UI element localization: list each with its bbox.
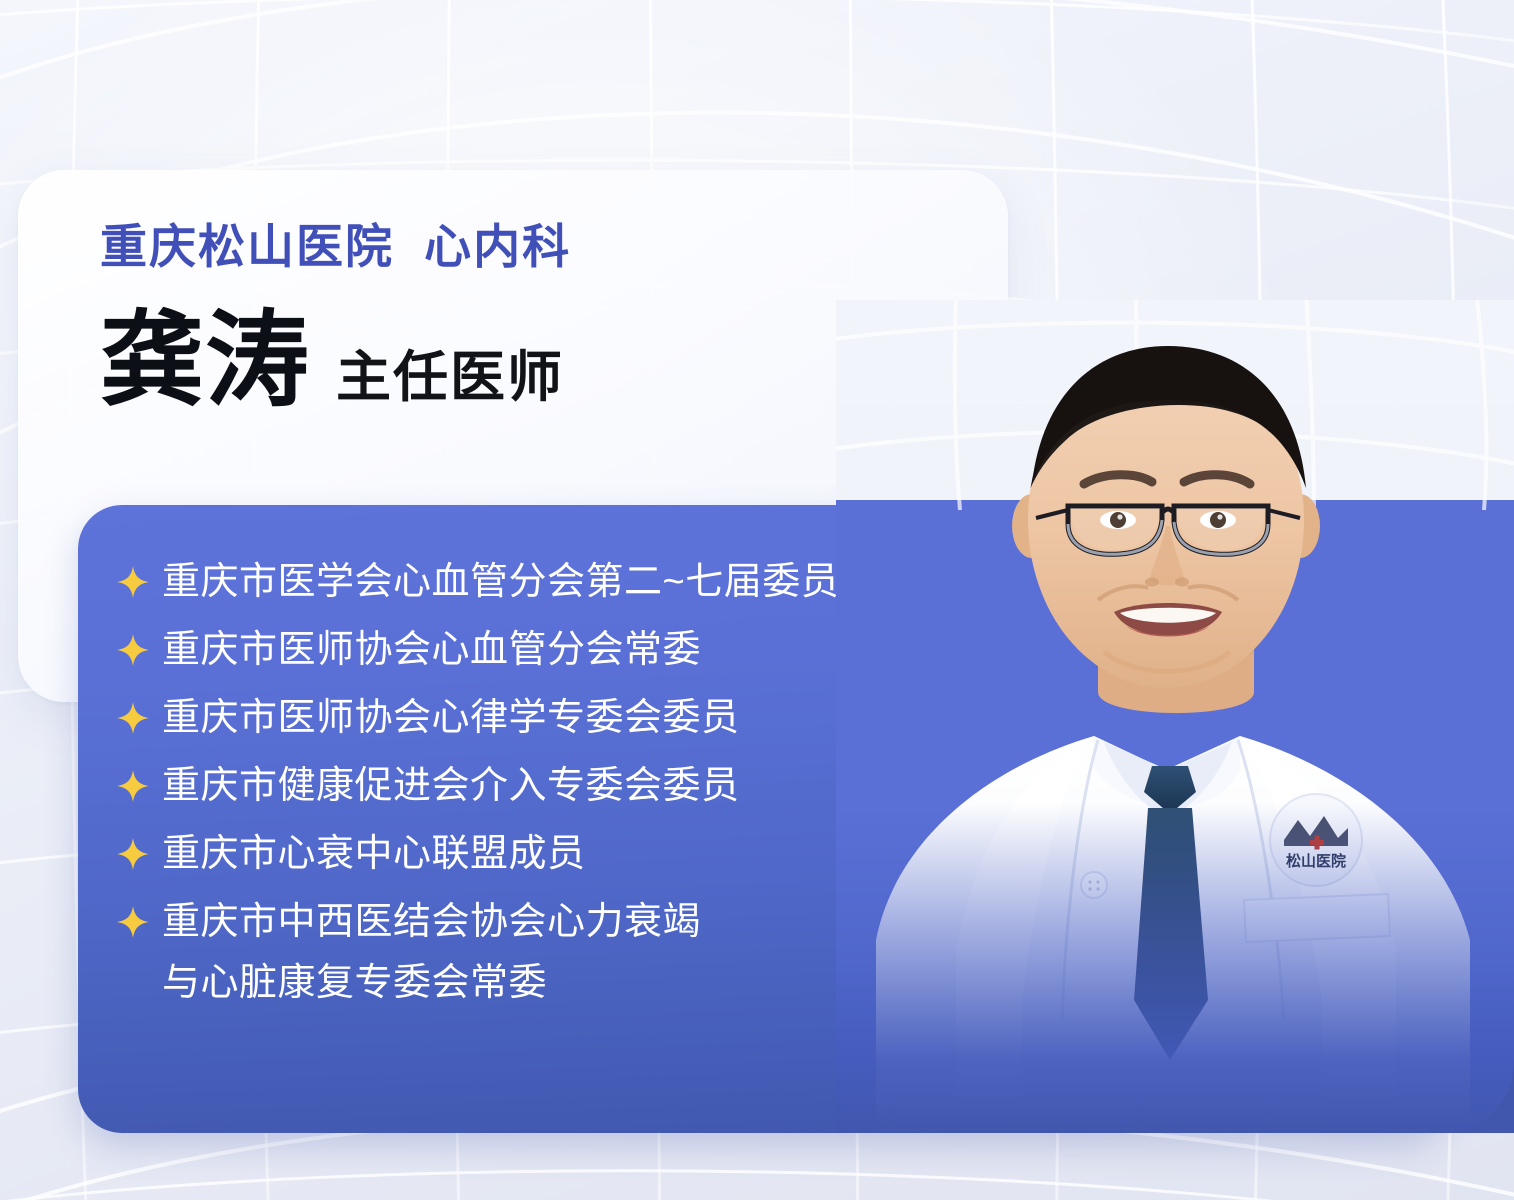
sparkle-star-icon <box>116 837 150 871</box>
doctor-name-row: 龚涛 主任医师 <box>100 309 1000 413</box>
credential-text: 重庆市心衰中心联盟成员 <box>162 829 586 880</box>
sparkle-star-icon <box>116 905 150 939</box>
credential-item: 重庆市医师协会心律学专委会委员 <box>116 693 978 744</box>
heading-block: 重庆松山医院 心内科 龚涛 主任医师 <box>100 218 1000 413</box>
doctor-title: 主任医师 <box>336 350 564 405</box>
credentials-card: 重庆市医学会心血管分会第二~七届委员重庆市医师协会心血管分会常委重庆市医师协会心… <box>78 505 1448 1133</box>
credential-text: 重庆市健康促进会介入专委会委员 <box>162 761 740 812</box>
credential-text: 重庆市医学会心血管分会第二~七届委员 <box>162 557 839 608</box>
credential-text: 重庆市中西医结会协会心力衰竭 <box>162 897 701 948</box>
hospital-department-line: 重庆松山医院 心内科 <box>100 218 1000 277</box>
credential-item: 重庆市健康促进会介入专委会委员 <box>116 761 978 812</box>
credential-item: 重庆市医学会心血管分会第二~七届委员 <box>116 557 978 608</box>
credential-text: 与心脏康复专委会常委 <box>162 958 547 1009</box>
sparkle-star-icon <box>116 701 150 735</box>
credentials-list: 重庆市医学会心血管分会第二~七届委员重庆市医师协会心血管分会常委重庆市医师协会心… <box>116 557 978 1026</box>
sparkle-star-icon <box>116 633 150 667</box>
credential-text: 重庆市医师协会心律学专委会委员 <box>162 693 740 744</box>
sparkle-star-icon <box>116 565 150 599</box>
credential-item: 重庆市医师协会心血管分会常委 <box>116 625 978 676</box>
credential-item: 与心脏康复专委会常委 <box>116 958 978 1009</box>
sparkle-star-icon <box>116 769 150 803</box>
credential-item: 重庆市中西医结会协会心力衰竭 <box>116 897 978 948</box>
credential-item: 重庆市心衰中心联盟成员 <box>116 829 978 880</box>
credential-text: 重庆市医师协会心血管分会常委 <box>162 625 701 676</box>
doctor-name: 龚涛 <box>100 309 310 413</box>
